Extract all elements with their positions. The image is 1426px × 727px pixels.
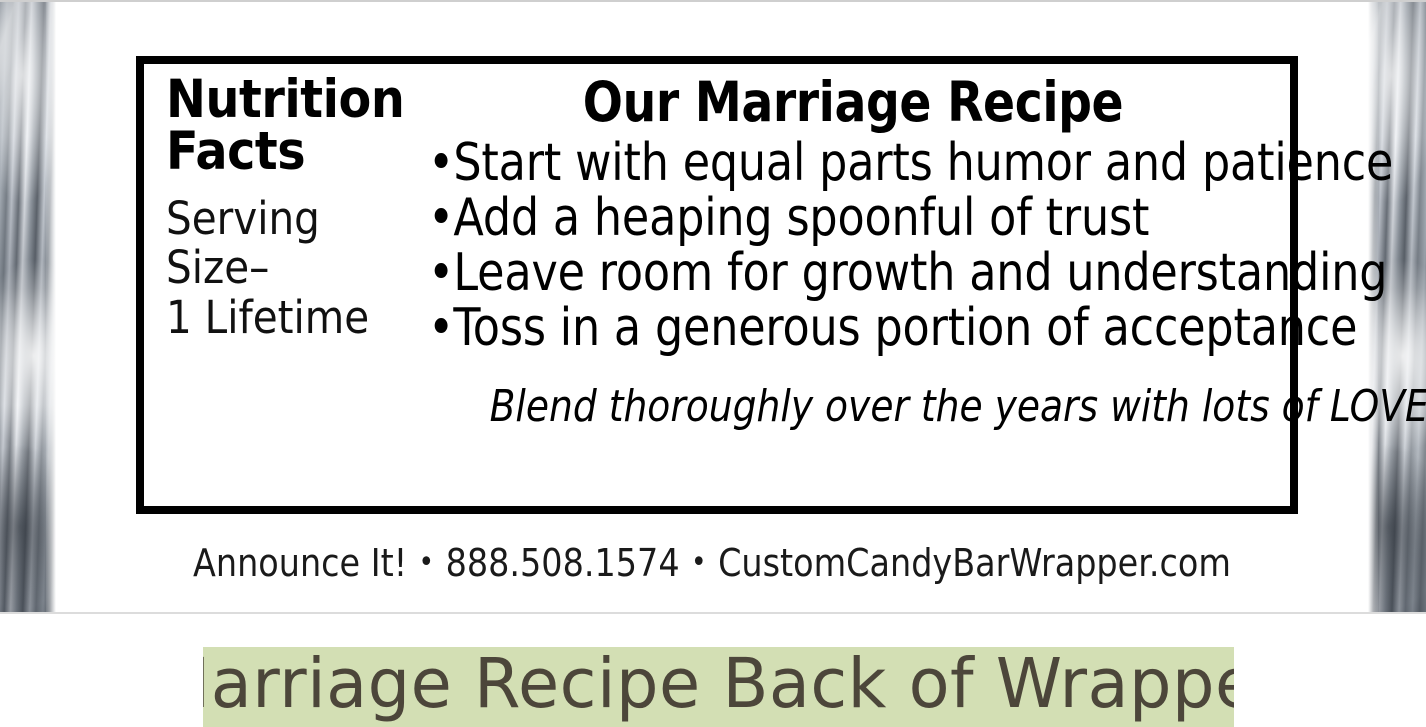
recipe-column: Our Marriage Recipe •Start with equal pa…	[428, 72, 1278, 431]
foil-inner-edge-fade	[46, 2, 56, 612]
nutrition-facts-title: Nutrition Facts	[166, 74, 398, 179]
serving-size-text: Serving Size– 1 Lifetime	[166, 194, 398, 343]
phone-number: 888.508.1574	[446, 541, 680, 585]
bullet-icon: •	[428, 298, 453, 358]
screenshot-canvas: Nutrition Facts Serving Size– 1 Lifetime…	[0, 0, 1426, 727]
list-item: •Leave room for growth and understanding	[428, 246, 1155, 301]
list-item-label: Toss in a generous portion of acceptance	[453, 298, 1357, 358]
website-url: CustomCandyBarWrapper.com	[718, 541, 1231, 585]
recipe-ingredient-list: •Start with equal parts humor and patien…	[428, 136, 1278, 356]
recipe-heading: Our Marriage Recipe	[488, 72, 1219, 134]
list-item: •Toss in a generous portion of acceptanc…	[428, 301, 1155, 356]
foil-inner-edge-fade	[1368, 2, 1378, 612]
list-item: •Add a heaping spoonful of trust	[428, 191, 1155, 246]
nutrition-facts-column: Nutrition Facts Serving Size– 1 Lifetime	[166, 74, 424, 342]
silver-foil-right-end	[1368, 2, 1426, 612]
brand-name: Announce It!	[193, 541, 407, 585]
caption-bar: Marriage Recipe Back of Wrapper	[203, 647, 1234, 727]
list-item: •Start with equal parts humor and patien…	[428, 136, 1155, 191]
silver-foil-left-end	[0, 2, 56, 612]
candy-bar-wrapper-photo: Nutrition Facts Serving Size– 1 Lifetime…	[0, 0, 1426, 614]
list-item-label: Leave room for growth and understanding	[453, 243, 1387, 303]
recipe-panel-inner: Nutrition Facts Serving Size– 1 Lifetime…	[144, 64, 1290, 506]
bullet-icon: •	[428, 188, 453, 248]
recipe-panel: Nutrition Facts Serving Size– 1 Lifetime…	[136, 56, 1298, 514]
recipe-closing-line: Blend thoroughly over the years with lot…	[490, 383, 1217, 431]
list-item-label: Add a heaping spoonful of trust	[453, 188, 1149, 248]
bullet-icon: •	[428, 243, 453, 303]
separator-dot: •	[680, 545, 718, 580]
bullet-icon: •	[428, 133, 453, 193]
list-item-label: Start with equal parts humor and patienc…	[453, 133, 1393, 193]
separator-dot: •	[407, 545, 445, 580]
contact-strip: Announce It!•888.508.1574•CustomCandyBar…	[135, 544, 1290, 582]
caption-label: Marriage Recipe Back of Wrapper	[203, 650, 1234, 719]
